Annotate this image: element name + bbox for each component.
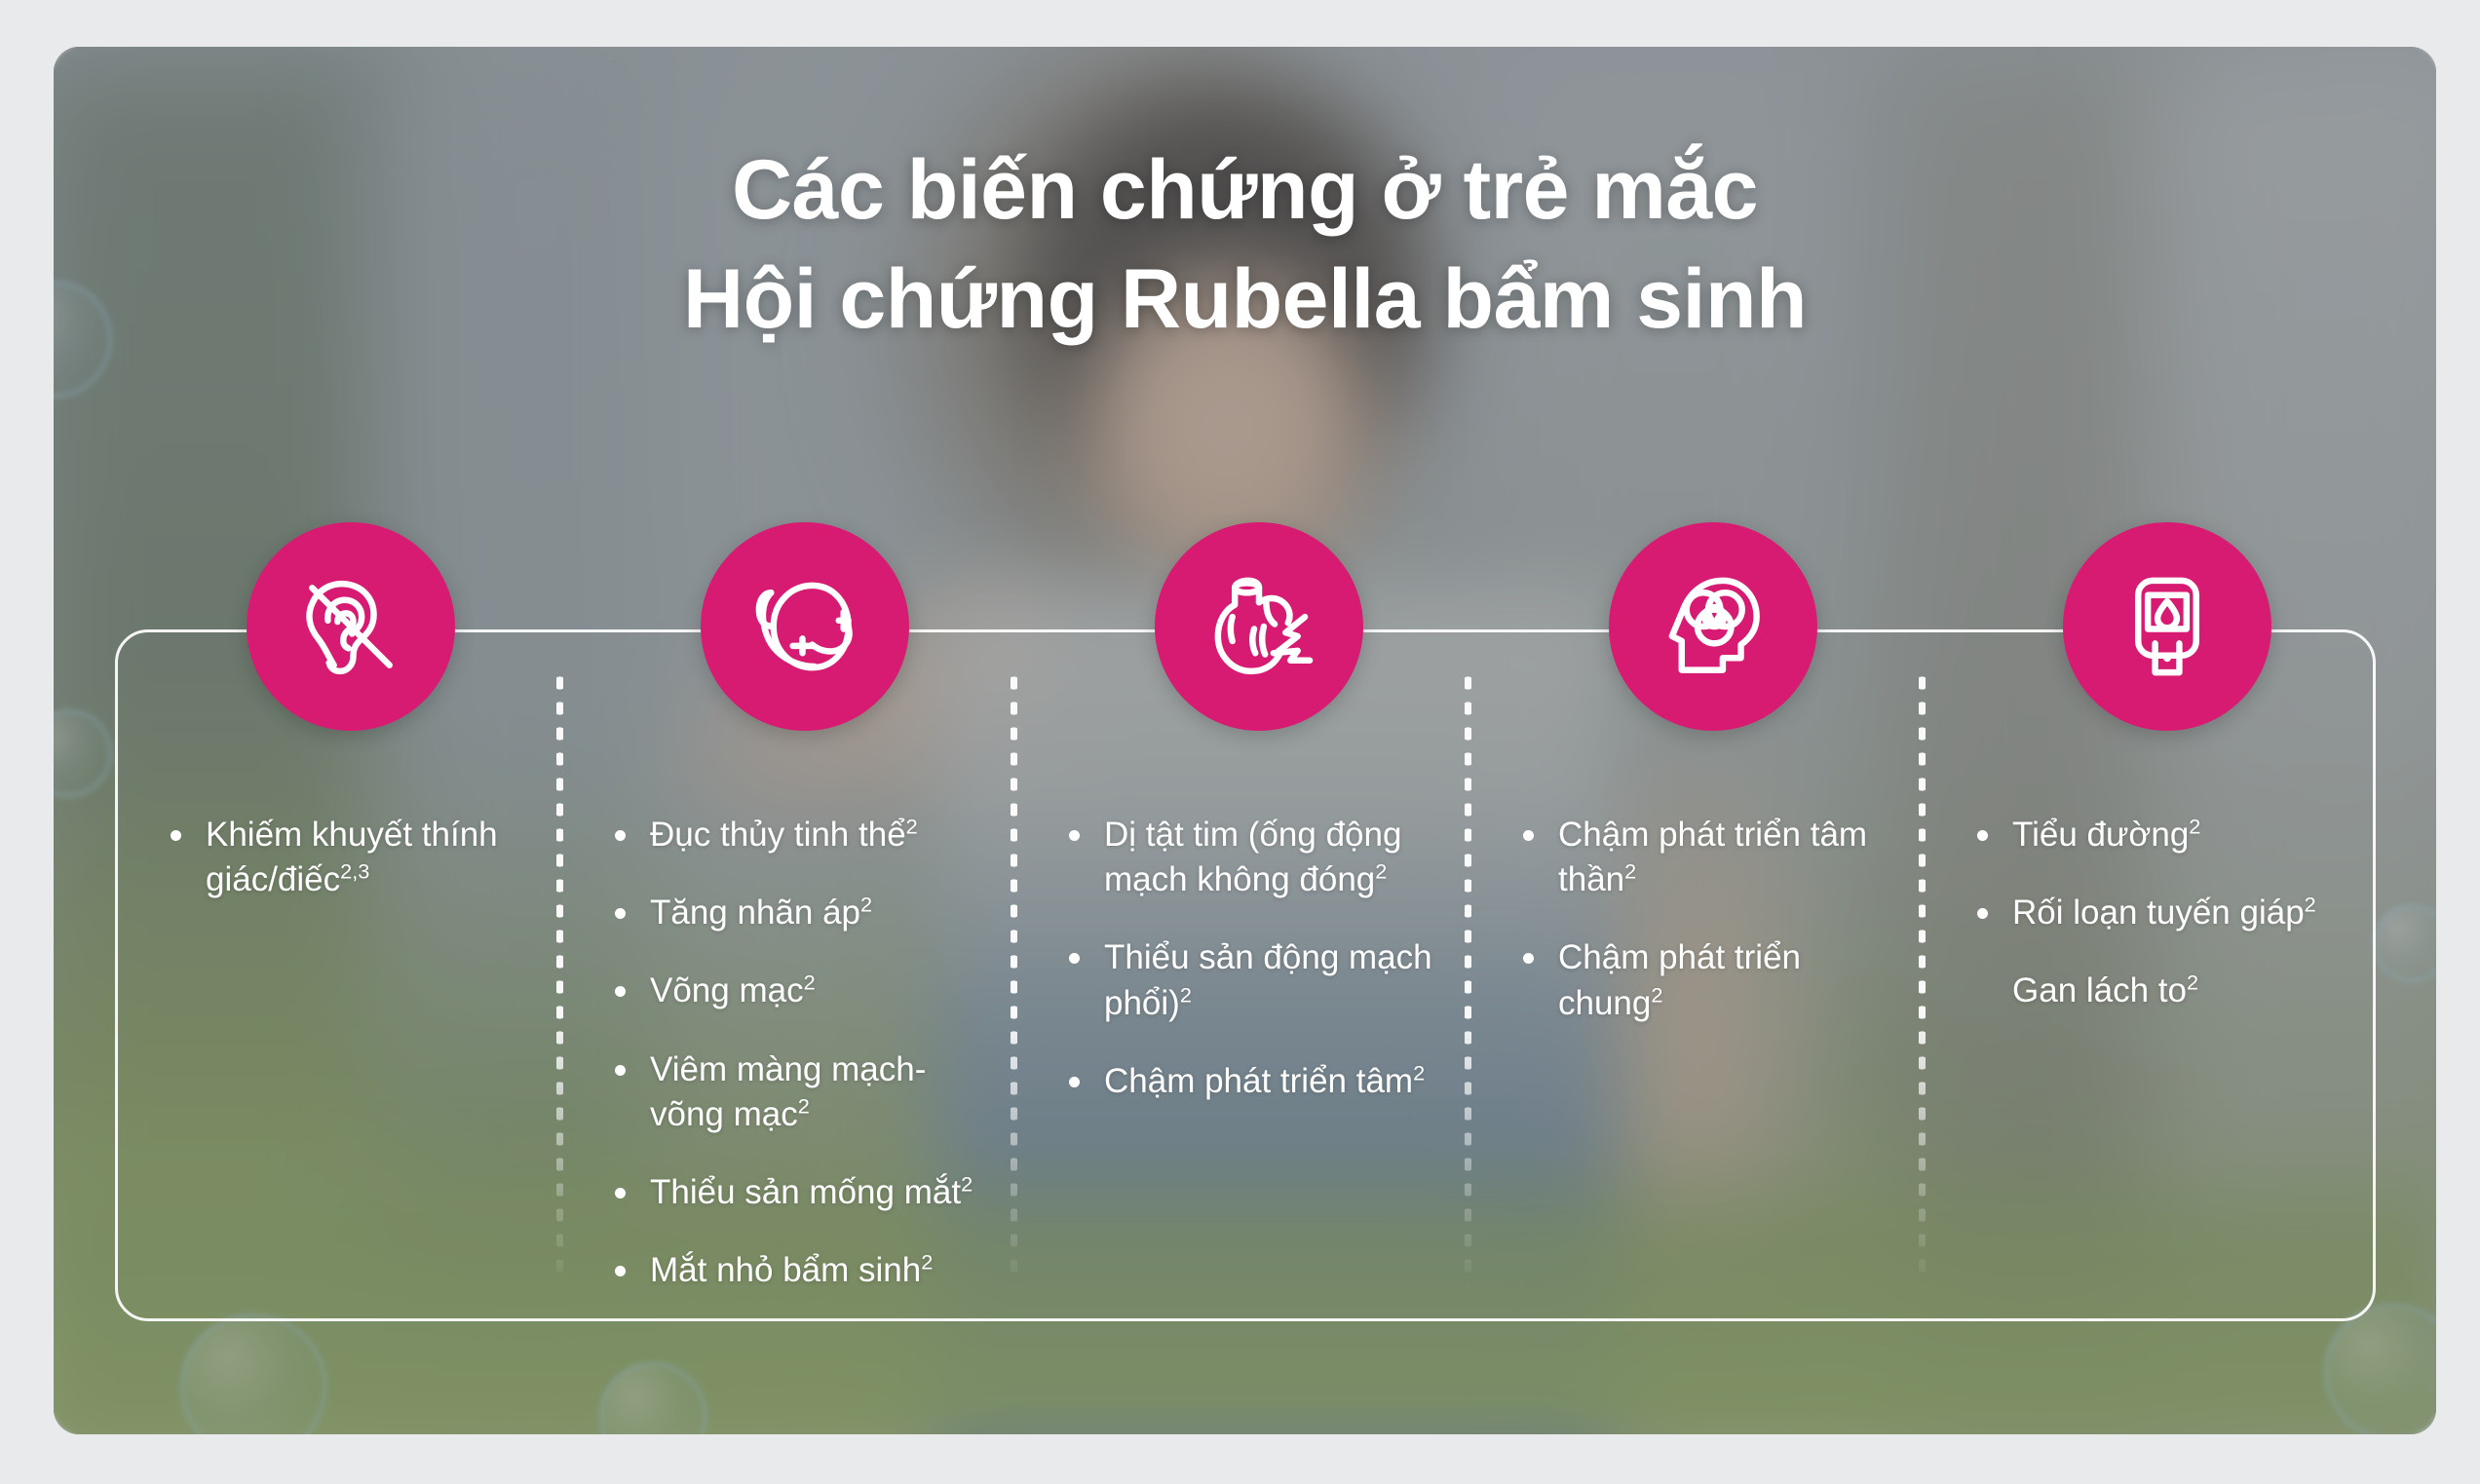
list-item-text: Chậm phát triển tâm — [1104, 1062, 1413, 1100]
column-heart-list: Dị tật tim (ống động mạch không đóng2 Th… — [1061, 813, 1470, 1104]
glucose-meter-icon — [2063, 522, 2271, 731]
list-item: Gan lách to2 — [1969, 969, 2379, 1013]
column-divider-4 — [1919, 670, 1926, 1294]
ear-crossed-out-icon — [247, 522, 455, 731]
list-item: Chậm phát triển tâm2 — [1061, 1059, 1470, 1104]
list-item-reference: 2 — [1375, 859, 1387, 884]
list-item-text: Gan lách to — [2012, 971, 2187, 1009]
column-hearing-list: Khiếm khuyết thính giác/điếc2,3 — [163, 813, 553, 902]
list-item-reference: 2 — [1624, 859, 1636, 884]
list-item-text: Khiếm khuyết thính giác/điếc — [206, 816, 498, 898]
list-item-text: Mắt nhỏ bẩm sinh — [650, 1251, 921, 1289]
infographic-page: Các biến chứng ở trẻ mắc Hội chứng Rubel… — [0, 0, 2480, 1484]
list-item-text: Võng mạc — [650, 971, 804, 1009]
list-item-reference: 2 — [2189, 814, 2200, 838]
list-item-text: Chậm phát triển chung — [1558, 938, 1801, 1021]
list-item: Võng mạc2 — [607, 969, 997, 1013]
list-item-text: Thiểu sản động mạch phổi) — [1104, 938, 1432, 1021]
list-item-text: Đục thủy tinh thể — [650, 816, 906, 854]
list-item: Viêm màng mạch-võng mạc2 — [607, 1047, 997, 1137]
list-item: Chậm phát triển chung2 — [1515, 935, 1905, 1025]
list-item: Chậm phát triển tâm thần2 — [1515, 813, 1905, 902]
list-item-reference: 2 — [804, 970, 816, 995]
list-item: Tăng nhãn áp2 — [607, 891, 997, 935]
column-endocrine: Tiểu đường2 Rối loạn tuyến giáp2 Gan lác… — [1969, 813, 2379, 1047]
list-item-reference: 2 — [2305, 893, 2316, 917]
list-item-reference: 2 — [1413, 1060, 1425, 1084]
column-hearing: Khiếm khuyết thính giác/điếc2,3 — [163, 813, 553, 935]
heart-anatomy-icon — [1155, 522, 1363, 731]
list-item-reference: 2 — [1651, 982, 1662, 1007]
column-neuro-list: Chậm phát triển tâm thần2 Chậm phát triể… — [1515, 813, 1905, 1026]
list-item: Thiểu sản mống mắt2 — [607, 1170, 997, 1215]
column-divider-1 — [556, 670, 563, 1294]
column-eye-list: Đục thủy tinh thể2 Tăng nhãn áp2 Võng mạ… — [607, 813, 997, 1293]
list-item-reference: 2 — [1180, 982, 1192, 1007]
list-item-reference: 2 — [860, 893, 872, 917]
title-line-2: Hội chứng Rubella bẩm sinh — [54, 246, 2436, 355]
list-item-text: Rối loạn tuyến giáp — [2012, 894, 2305, 932]
list-item: Rối loạn tuyến giáp2 — [1969, 891, 2379, 935]
list-item: Đục thủy tinh thể2 — [607, 813, 997, 857]
list-item: Tiểu đường2 — [1969, 813, 2379, 857]
column-eye: Đục thủy tinh thể2 Tăng nhãn áp2 Võng mạ… — [607, 813, 997, 1326]
list-item-text: Chậm phát triển tâm thần — [1558, 816, 1867, 898]
list-item-reference: 2 — [961, 1171, 973, 1196]
list-item: Thiểu sản động mạch phổi)2 — [1061, 935, 1470, 1025]
list-item-text: Tăng nhãn áp — [650, 894, 860, 932]
list-item: Khiếm khuyết thính giác/điếc2,3 — [163, 813, 553, 902]
column-neuro: Chậm phát triển tâm thần2 Chậm phát triể… — [1515, 813, 1905, 1059]
title-line-1: Các biến chứng ở trẻ mắc — [54, 136, 2436, 246]
list-item-reference: 2 — [2187, 970, 2198, 995]
content-layer: Các biến chứng ở trẻ mắc Hội chứng Rubel… — [54, 47, 2436, 1434]
page-title: Các biến chứng ở trẻ mắc Hội chứng Rubel… — [54, 136, 2436, 355]
list-item-text: Thiểu sản mống mắt — [650, 1173, 961, 1211]
column-endocrine-list: Tiểu đường2 Rối loạn tuyến giáp2 Gan lác… — [1969, 813, 2379, 1014]
list-item: Mắt nhỏ bẩm sinh2 — [607, 1248, 997, 1293]
list-item-reference: 2 — [906, 814, 918, 838]
column-heart: Dị tật tim (ống động mạch không đóng2 Th… — [1061, 813, 1470, 1137]
head-brain-icon — [1609, 522, 1817, 731]
list-item-text: Dị tật tim (ống động mạch không đóng — [1104, 816, 1401, 898]
list-item-text: Viêm màng mạch-võng mạc — [650, 1050, 926, 1133]
list-item-reference: 2,3 — [340, 859, 369, 884]
column-divider-2 — [1011, 670, 1017, 1294]
list-item-text: Tiểu đường — [2012, 816, 2189, 854]
list-item-reference: 2 — [921, 1249, 933, 1274]
list-item-reference: 2 — [798, 1093, 810, 1118]
list-item: Dị tật tim (ống động mạch không đóng2 — [1061, 813, 1470, 902]
eye-anatomy-icon — [701, 522, 909, 731]
